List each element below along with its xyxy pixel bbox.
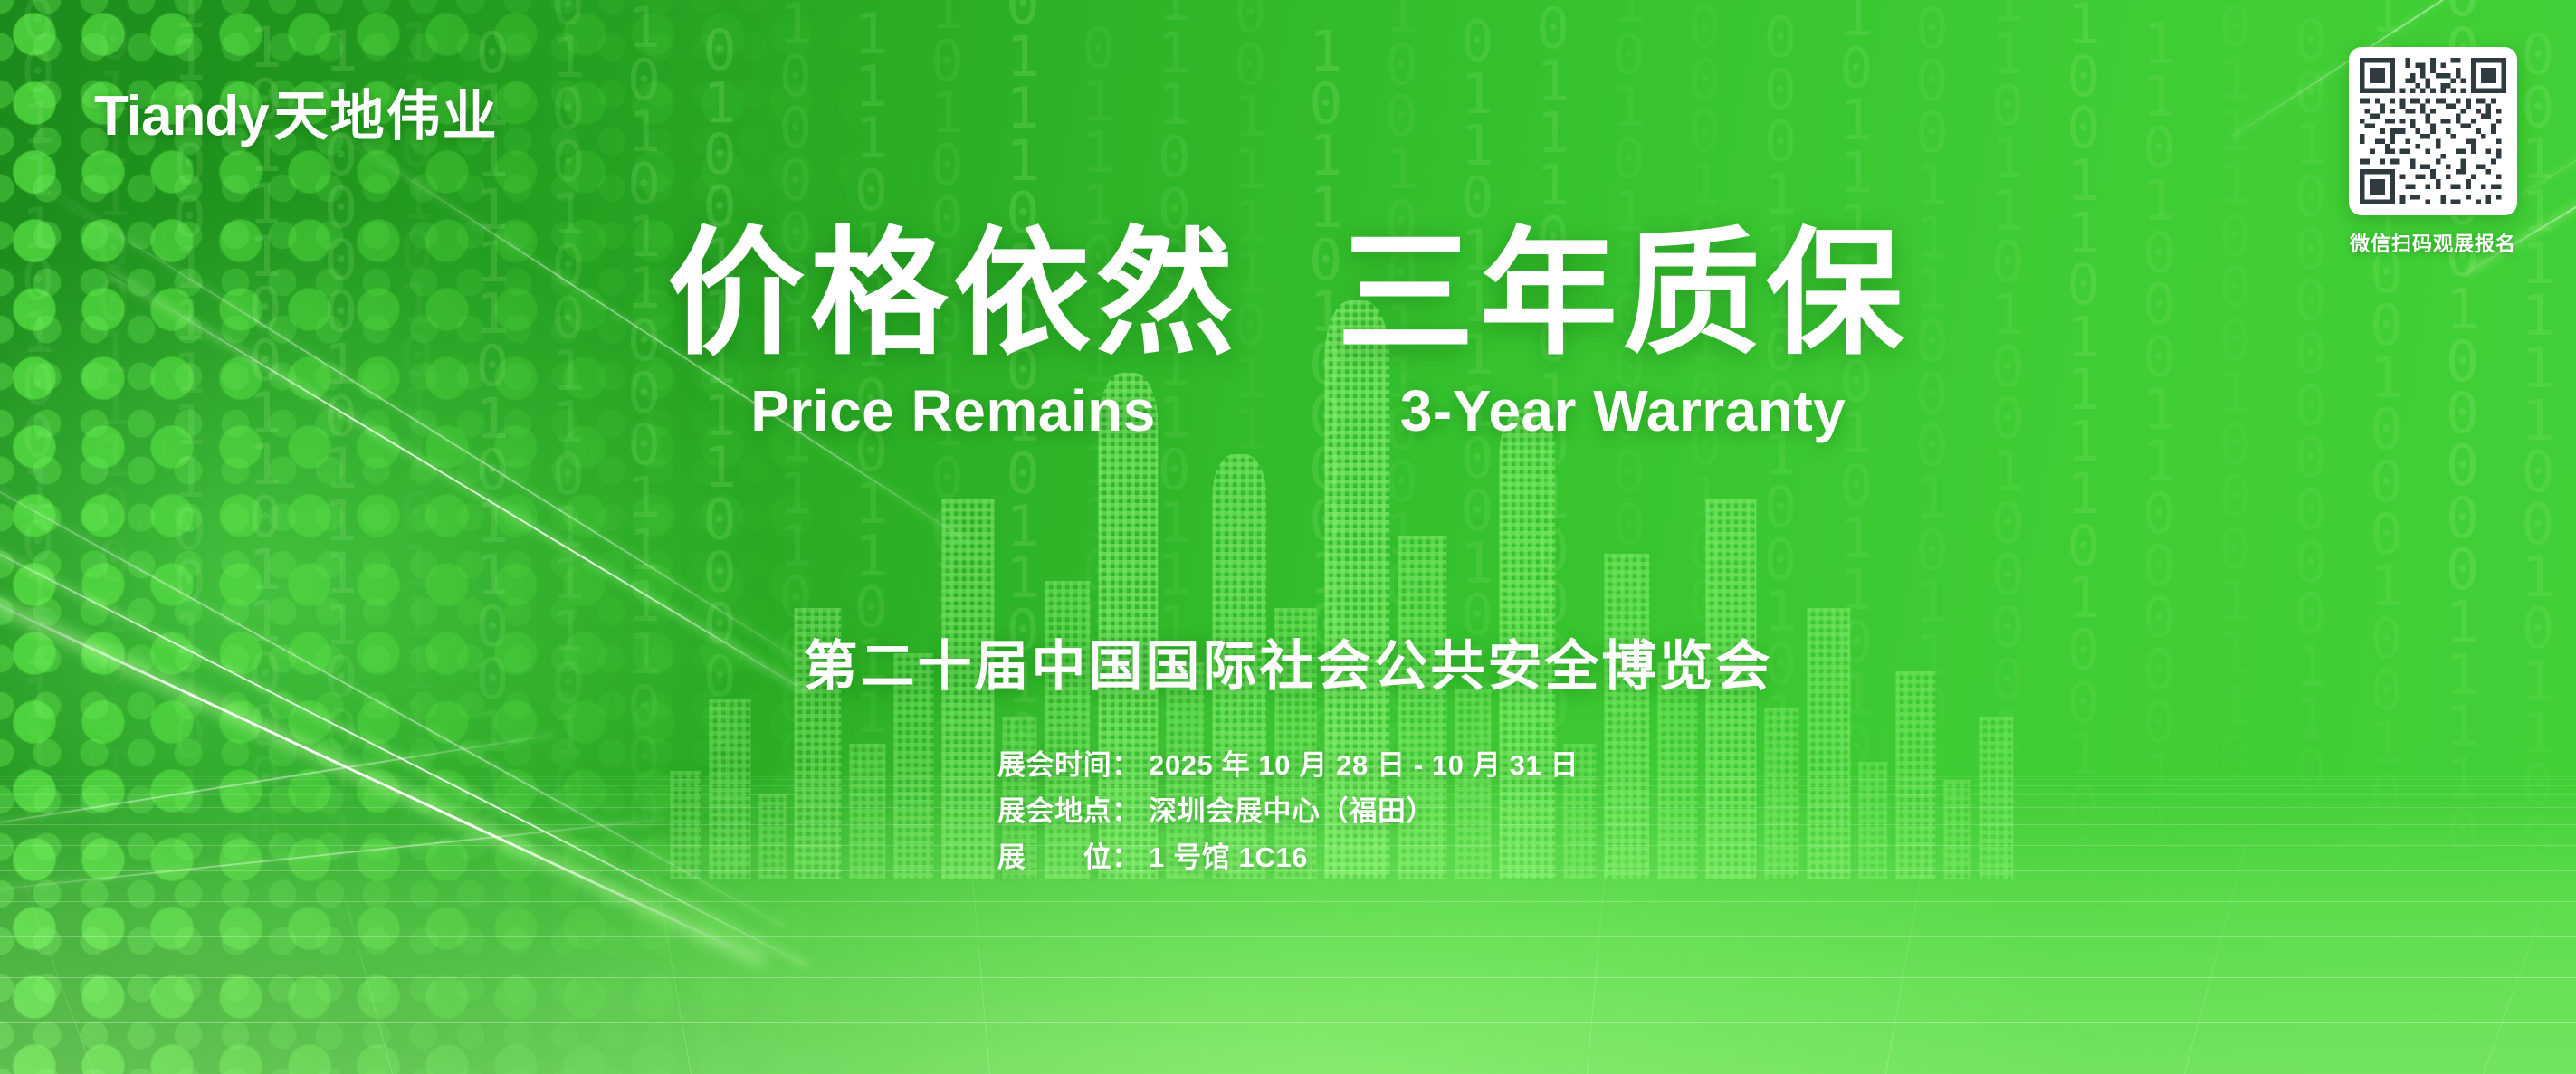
- brand-logo-latin: Tiandy: [94, 84, 269, 148]
- expo-date-row: 展会时间： 2025 年 10 月 28 日 - 10 月 31 日: [997, 742, 1579, 783]
- headline-right-chinese: 三年质保: [1337, 224, 1909, 365]
- brand-logo-chinese: 天地伟业: [274, 72, 499, 151]
- promo-banner: 0 0 1 1 1 0 1 0 0 1 0 1 1 1 1 0 1 1 0 0 …: [0, 0, 2576, 1074]
- headline-left: 价格依然 Price Remains: [667, 224, 1239, 442]
- headline-right: 三年质保 3-Year Warranty: [1337, 224, 1909, 442]
- headline-group: 价格依然 Price Remains 三年质保 3-Year Warranty: [0, 224, 2576, 442]
- expo-booth-row: 展 位： 1 号馆 1C16: [997, 834, 1579, 875]
- headline-left-chinese: 价格依然: [667, 224, 1239, 365]
- banner-content: Tiandy 天地伟业: [0, 0, 2576, 1074]
- qr-code-icon[interactable]: [2349, 47, 2517, 215]
- brand-logo: Tiandy 天地伟业: [94, 72, 499, 151]
- headline-left-english: Price Remains: [667, 379, 1239, 442]
- expo-venue-row: 展会地点： 深圳会展中心（福田）: [997, 788, 1579, 829]
- headline-right-english: 3-Year Warranty: [1337, 379, 1909, 442]
- expo-details: 展会时间： 2025 年 10 月 28 日 - 10 月 31 日 展会地点：…: [0, 742, 2576, 875]
- expo-title: 第二十届中国国际社会公共安全博览会: [0, 623, 2576, 701]
